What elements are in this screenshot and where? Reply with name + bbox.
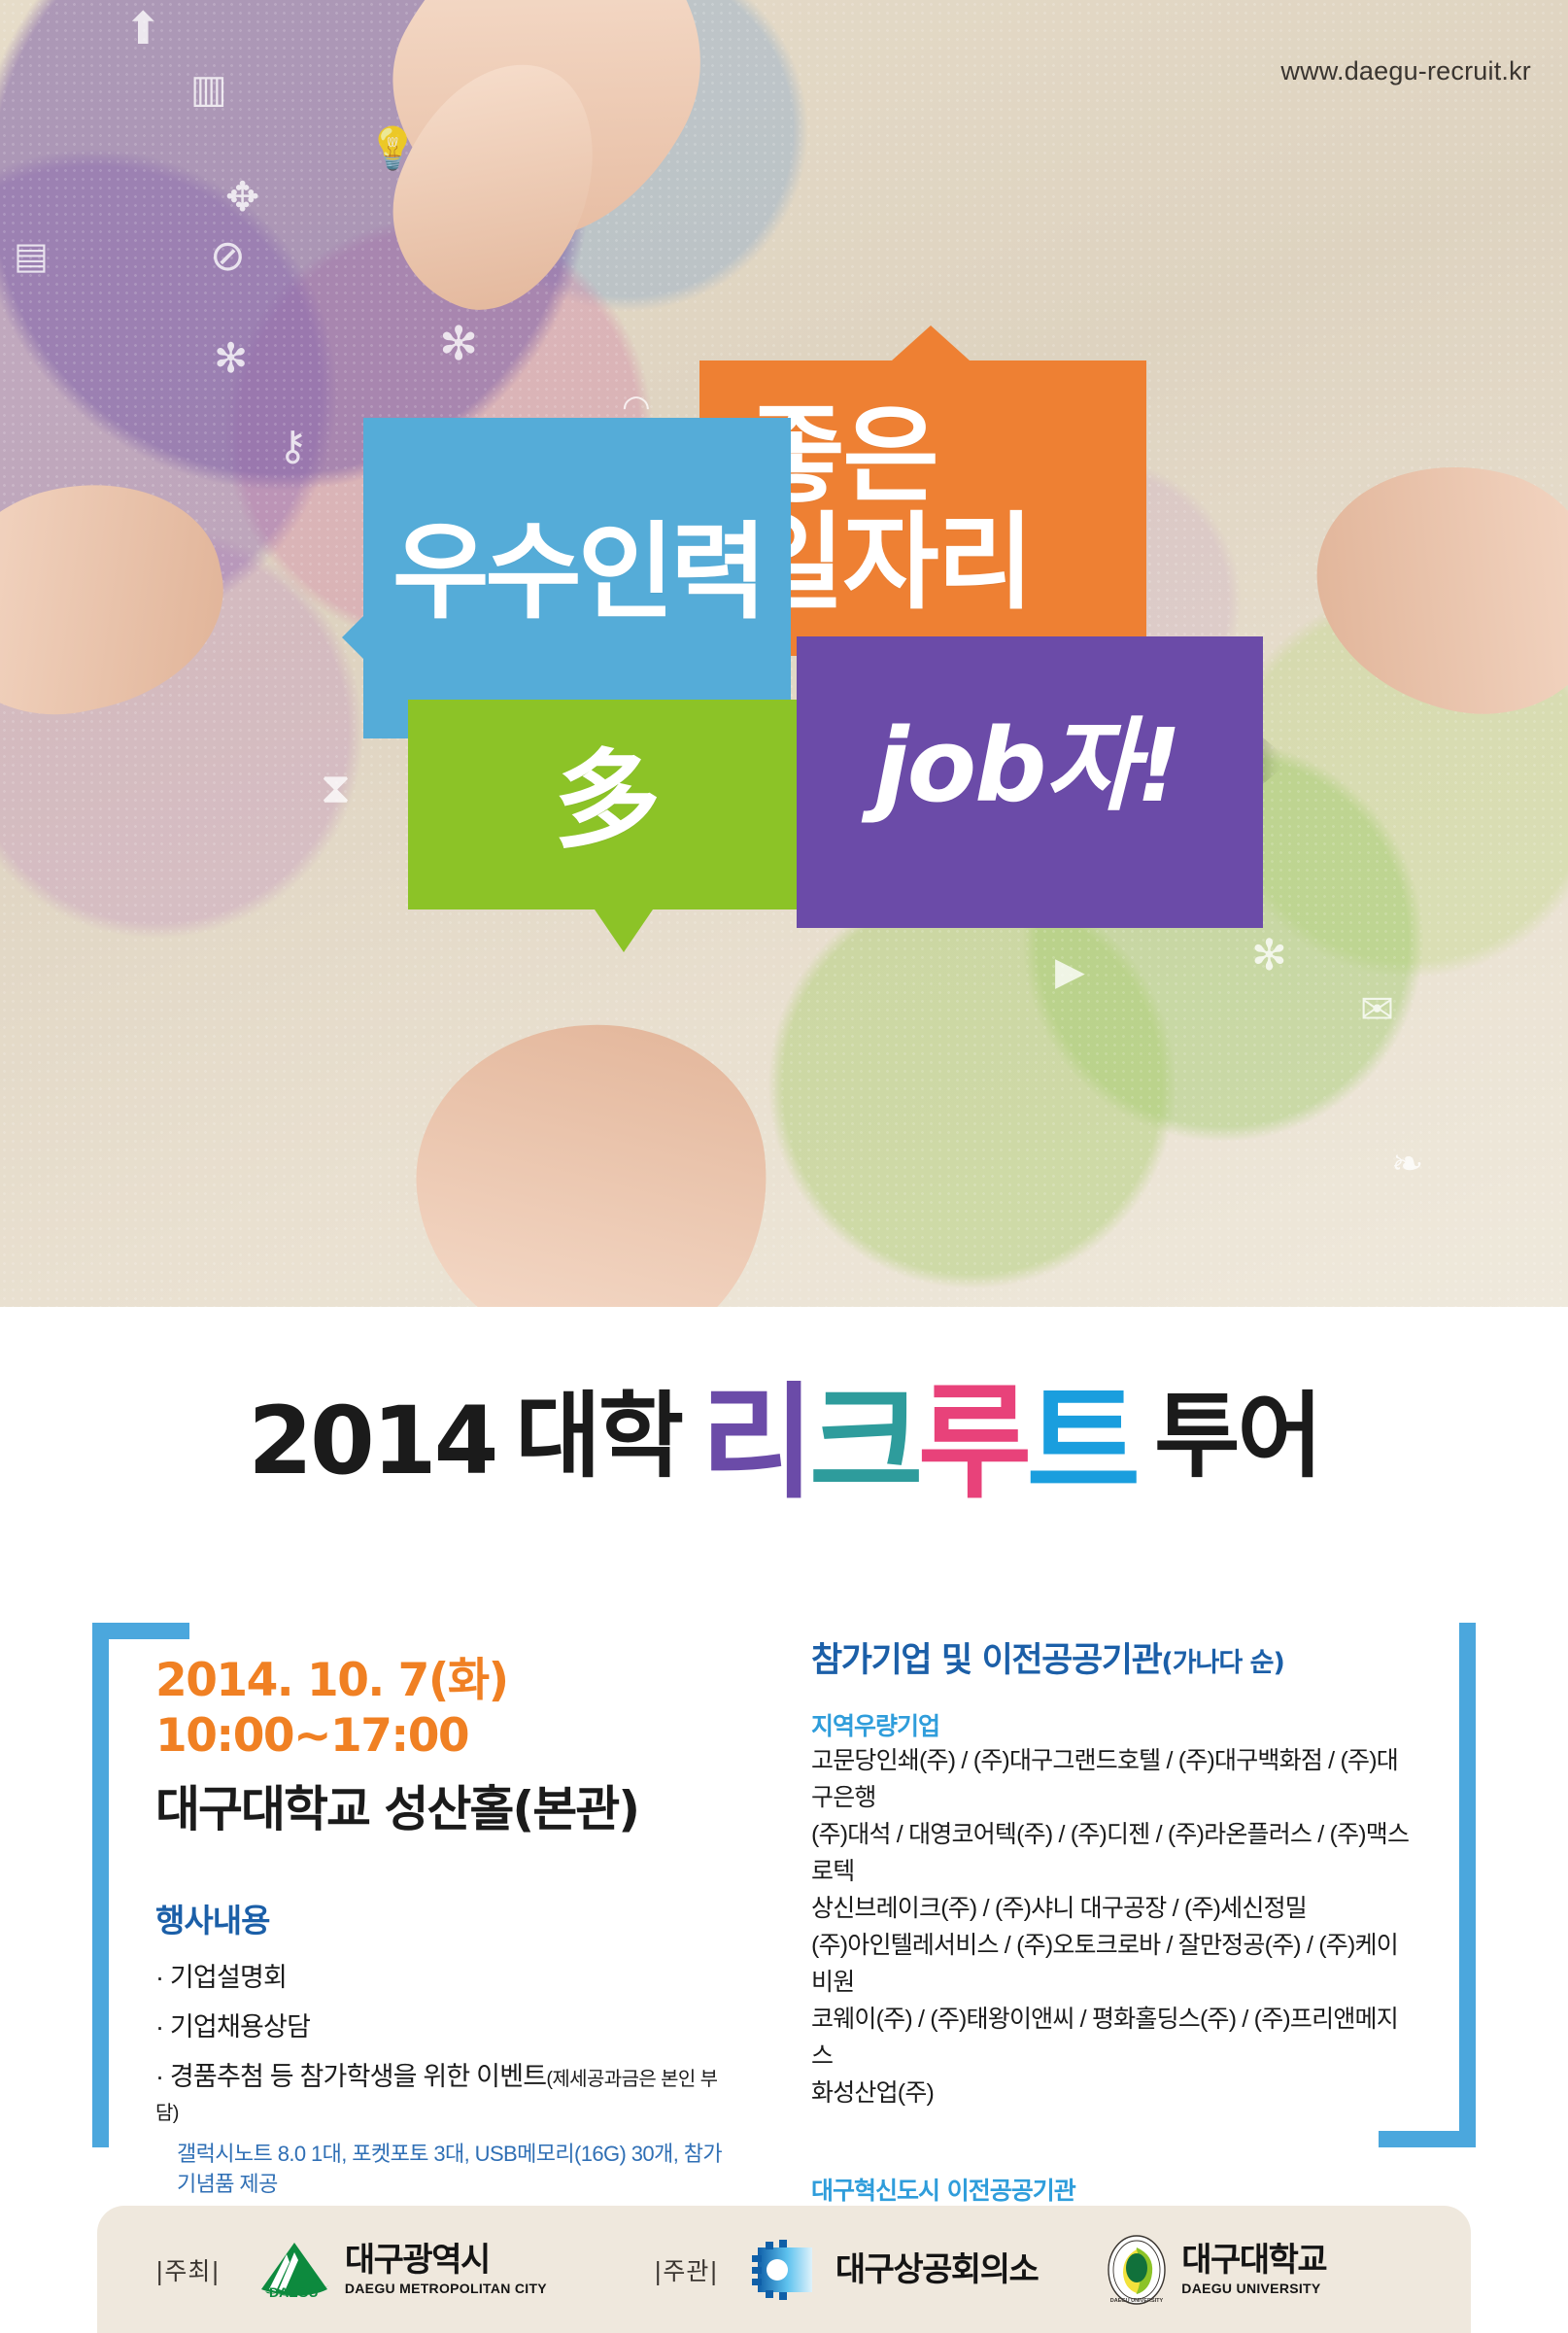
up-arrow-icon: ⬆	[124, 6, 162, 51]
gear-small-icon: ✻	[214, 338, 248, 379]
speech-bubble-jobja-text: job자!	[874, 714, 1180, 817]
list-item: 화성산업(주)	[811, 2075, 1414, 2111]
hourglass-icon: ⧗	[321, 768, 351, 810]
daegu-city-mark-icon: DAEGU	[256, 2239, 331, 2301]
logo-daegu-chamber-of-commerce: 대구상공회의소	[752, 2240, 1038, 2300]
lightbulb-icon: 💡	[367, 128, 418, 169]
company-list: 고문당인쇄(주) / (주)대구그랜드호텔 / (주)대구백화점 / (주)대구…	[811, 1742, 1414, 2111]
list-item: (주)대석 / 대영코어텍(주) / (주)디젠 / (주)라온플러스 / (주…	[811, 1816, 1414, 1890]
list-item: 고문당인쇄(주) / (주)대구그랜드호텔 / (주)대구백화점 / (주)대구…	[811, 1742, 1414, 1816]
svg-text:DAEGU UNIVERSITY: DAEGU UNIVERSITY	[1110, 2298, 1164, 2304]
envelope-icon: ✉	[1360, 989, 1394, 1030]
list-item: · 기업설명회	[155, 1961, 738, 1995]
hand-illustration-bottom	[401, 1008, 784, 1307]
list-item: · 경품추첨 등 참가학생을 위한 이벤트(제세공과금은 본인 부담)	[155, 2060, 738, 2128]
participants-heading-main: 참가기업 및 이전공공기관	[811, 1641, 1161, 1680]
speech-bubble-excellent-talent: 우수인력	[342, 418, 791, 738]
key-icon: ⚷	[278, 426, 308, 466]
list-item: (주)아인텔레서비스 / (주)오토크로바 / 잘만정공(주) / (주)케이비…	[811, 1927, 1414, 2001]
leaf-icon: ❧	[1391, 1145, 1424, 1184]
website-url: www.daegu-recruit.kr	[1280, 56, 1531, 86]
title-logo-char-1: 리	[700, 1387, 809, 1501]
title-tour: 투어	[1154, 1360, 1320, 1501]
hand-illustration-left-fist	[0, 459, 244, 736]
no-entry-icon: ⊘	[210, 235, 246, 278]
bullet-text-3: · 경품추첨 등 참가학생을 위한 이벤트	[155, 2062, 546, 2091]
title-logo-char-3: 루	[918, 1387, 1027, 1501]
logo-label-ko: 대구대학교	[1181, 2244, 1326, 2277]
participants-column: 참가기업 및 이전공공기관(가나다 순) 지역우량기업 고문당인쇄(주) / (…	[811, 1632, 1414, 2248]
participants-heading: 참가기업 및 이전공공기관(가나다 순)	[811, 1632, 1414, 1682]
logo-daegu-metropolitan-city: DAEGU 대구광역시 DAEGU METROPOLITAN CITY	[256, 2239, 547, 2301]
gear-icon: ✻	[439, 321, 478, 367]
title-logo-char-4: 트	[1026, 1387, 1135, 1501]
battery-icon: ▤	[14, 237, 49, 274]
logo-daegu-university: DAEGU UNIVERSITY 대구대학교 DAEGU UNIVERSITY	[1106, 2234, 1326, 2306]
info-section: 2014. 10. 7(화) 10:00~17:00 대구대학교 성산홀(본관)…	[0, 1594, 1568, 2196]
logo-label-ko: 대구상공회의소	[835, 2253, 1038, 2286]
host-tag-label: |주최|	[155, 2252, 221, 2287]
bar-chart-icon: ▥	[190, 70, 227, 109]
logo-label-en: DAEGU UNIVERSITY	[1181, 2282, 1326, 2295]
event-date: 2014. 10. 7(화) 10:00~17:00	[155, 1642, 738, 1763]
gear-right-icon: ✻	[1251, 935, 1287, 978]
list-item: · 기업채용상담	[155, 2010, 738, 2044]
speech-bubble-jobja: job자!	[797, 636, 1263, 928]
event-details-column: 2014. 10. 7(화) 10:00~17:00 대구대학교 성산홀(본관)…	[155, 1642, 738, 2290]
list-item: 코웨이(주) / (주)태왕이앤씨 / 평화홀딩스(주) / (주)프리앤메지스	[811, 2001, 1414, 2075]
hand-illustration-right	[1290, 434, 1568, 740]
event-venue: 대구대학교 성산홀(본관)	[155, 1770, 738, 1840]
speech-bubble-many: 多	[408, 700, 797, 952]
local-companies-heading: 지역우량기업	[811, 1707, 1414, 1742]
list-item: 상신브레이크(주) / (주)샤니 대구공장 / (주)세신정밀	[811, 1890, 1414, 1927]
program-bullet-list: · 기업설명회 · 기업채용상담 · 경품추첨 등 참가학생을 위한 이벤트(제…	[155, 1961, 738, 2200]
bullet-text-2: · 기업채용상담	[155, 2012, 310, 2041]
page-title: 2014 대학 리 크 루 트 투어	[0, 1360, 1568, 1501]
logo-label-ko: 대구광역시	[345, 2244, 547, 2277]
participants-heading-suffix: (가나다 순)	[1161, 1648, 1283, 1678]
hero-banner: ⬆ ▥ 💡 ✥ ▤ ⊘ ✻ ✻ ◠ ⚷ ⧗ ▶ ✻ ✉ ❧ www.daegu-…	[0, 0, 1568, 1307]
daegu-cci-gear-icon	[752, 2240, 822, 2300]
prize-detail-text: 갤럭시노트 8.0 1대, 포켓포토 3대, USB메모리(16G) 30개, …	[177, 2140, 738, 2200]
daegu-university-seal-icon: DAEGU UNIVERSITY	[1106, 2234, 1168, 2306]
bullet-text-1: · 기업설명회	[155, 1963, 287, 1992]
organizer-tag-label: |주관|	[654, 2252, 719, 2287]
title-university: 대학	[515, 1360, 681, 1501]
speech-bubble-many-text: 多	[554, 746, 661, 855]
public-institutions-heading: 대구혁신도시 이전공공기관	[811, 2172, 1414, 2207]
title-year: 2014	[248, 1387, 495, 1501]
program-heading: 행사내용	[155, 1895, 738, 1941]
logo-label-en: DAEGU METROPOLITAN CITY	[345, 2282, 547, 2295]
speech-bubble-excellent-talent-text: 우수인력	[392, 520, 763, 627]
title-logo-char-2: 크	[809, 1387, 918, 1501]
arrows-move-icon: ✥	[225, 177, 259, 218]
sponsor-footer: |주최| DAEGU 대구광역시 DAEGU METROPOLITAN CITY…	[97, 2206, 1471, 2333]
play-icon: ▶	[1055, 952, 1085, 991]
svg-text:DAEGU: DAEGU	[269, 2284, 319, 2300]
